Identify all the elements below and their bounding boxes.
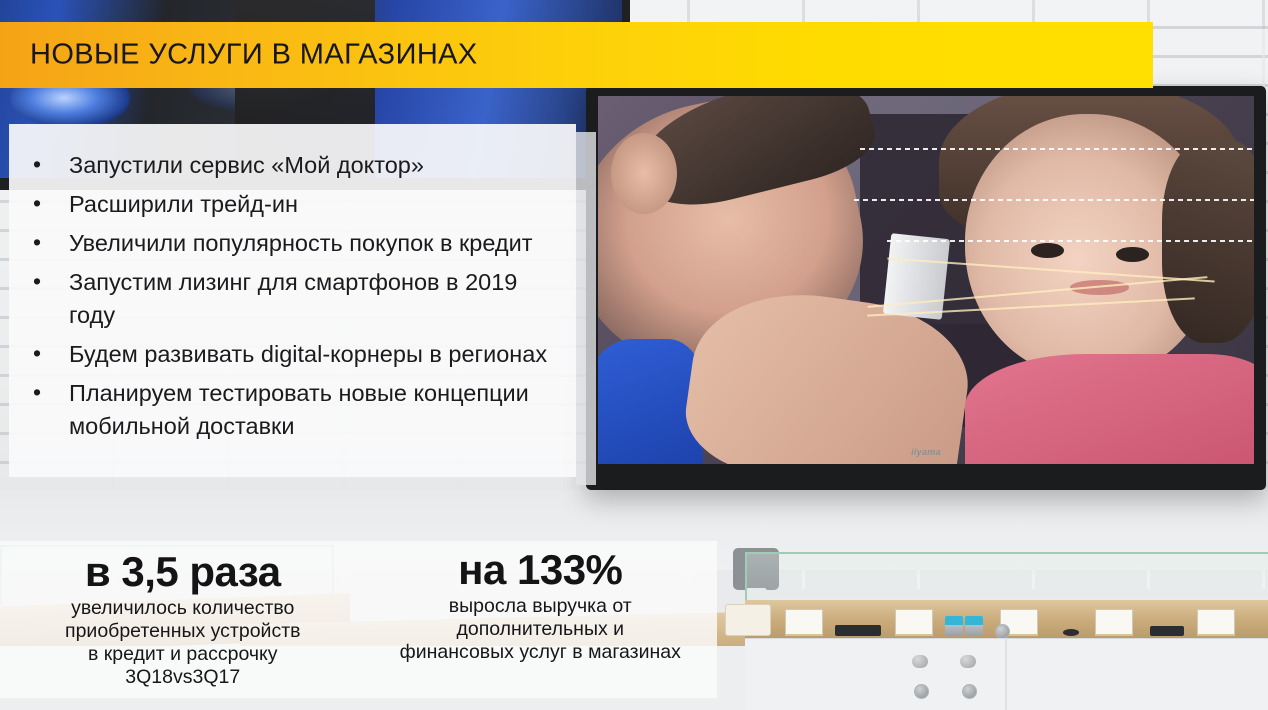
slide-title: НОВЫЕ УСЛУГИ В МАГАЗИНАХ [30, 39, 478, 72]
stat-value: на 133% [458, 546, 622, 594]
tv-brand-label: iiyama [598, 447, 1254, 457]
child-eye-right [1116, 247, 1149, 262]
tv-picture-doctor-and-child [598, 96, 1254, 464]
main-tv: iiyama [586, 86, 1266, 490]
wooden-shelf [745, 600, 1268, 640]
scan-line-1 [860, 148, 1254, 150]
shelf-price-card-5 [1197, 609, 1235, 636]
cabinet-lock-left [914, 684, 929, 699]
bullet-panel-shadow-edge [576, 132, 596, 485]
shelf-device-1 [835, 625, 881, 636]
shelf-speaker-2 [965, 616, 983, 636]
stat-value: в 3,5 раза [85, 548, 281, 596]
cabinet-lock-right [962, 684, 977, 699]
doctor-ear [611, 133, 677, 214]
list-item: Будем развивать digital-корнеры в регион… [21, 338, 568, 371]
slide-title-bar: НОВЫЕ УСЛУГИ В МАГАЗИНАХ [0, 22, 1153, 88]
cabinet-divider [1005, 638, 1007, 710]
list-item: Запустим лизинг для смартфонов в 2019 го… [21, 266, 568, 332]
shelf-device-3 [1150, 626, 1184, 636]
stat-block-financial-services: на 133% выросла выручка от дополнительны… [360, 541, 718, 698]
shelf-speaker-1 [945, 616, 963, 636]
child-eye-left [1031, 243, 1064, 258]
stats-row: в 3,5 раза увеличилось количество приобр… [0, 541, 717, 698]
stat-description: выросла выручка от дополнительных и фина… [400, 595, 681, 664]
stat-block-credit-devices: в 3,5 раза увеличилось количество приобр… [0, 541, 360, 698]
glass-display-case [745, 552, 1268, 606]
scan-line-2 [854, 199, 1254, 201]
shelf-price-card-1 [785, 609, 823, 636]
shelf-price-card-4 [1095, 609, 1133, 636]
scan-line-3 [887, 240, 1254, 242]
stats-panel: в 3,5 раза увеличилось количество приобр… [0, 541, 717, 698]
shelf-device-2 [1063, 629, 1079, 636]
main-tv-screen: iiyama [598, 96, 1254, 464]
list-item: Планируем тестировать новые концепции мо… [21, 377, 568, 443]
stat-description: увеличилось количество приобретенных уст… [65, 597, 300, 689]
shelf-lock [995, 624, 1010, 639]
bullet-list: Запустили сервис «Мой доктор» Расширили … [21, 149, 568, 449]
list-item: Расширили трейд-ин [21, 188, 568, 221]
cabinet-knob-right [960, 655, 976, 668]
cabinet-knob-left [912, 655, 928, 668]
slide-canvas: iiyama НОВЫЕ [0, 0, 1268, 710]
shelf-device-box [725, 604, 771, 636]
otoscope-device [883, 233, 950, 320]
list-item: Запустили сервис «Мой доктор» [21, 149, 568, 182]
bullet-panel: Запустили сервис «Мой доктор» Расширили … [9, 124, 576, 477]
list-item: Увеличили популярность покупок в кредит [21, 227, 568, 260]
shelf-price-card-2 [895, 609, 933, 636]
